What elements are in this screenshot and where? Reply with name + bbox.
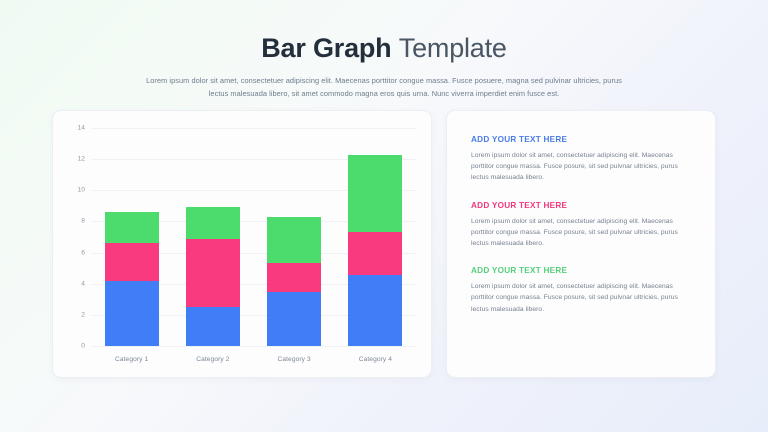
text-block-1-heading: ADD YOUR TEXT HERE — [471, 135, 693, 144]
bar-segment[interactable] — [105, 281, 159, 346]
bar-column[interactable]: Category 2 — [186, 128, 240, 346]
y-axis-tick-label: 10 — [77, 187, 85, 194]
bar-column[interactable]: Category 3 — [267, 128, 321, 346]
page-title-light: Template — [399, 33, 507, 63]
y-axis-tick-label: 14 — [77, 125, 85, 132]
gridline: 0 — [91, 346, 416, 347]
bar-segment[interactable] — [267, 263, 321, 291]
x-axis-tick-label: Category 4 — [359, 356, 392, 363]
content-row: 14121086420 Category 1Category 2Category… — [52, 110, 716, 378]
slide-header: Bar Graph Template Lorem ipsum dolor sit… — [0, 0, 768, 100]
y-axis-tick-label: 8 — [81, 218, 85, 225]
bar-column[interactable]: Category 1 — [105, 128, 159, 346]
text-block-3: ADD YOUR TEXT HERE Lorem ipsum dolor sit… — [471, 266, 693, 315]
bar-column[interactable]: Category 4 — [348, 128, 402, 346]
chart-bars: Category 1Category 2Category 3Category 4 — [91, 128, 416, 346]
bar-segment[interactable] — [267, 217, 321, 264]
text-block-2-heading: ADD YOUR TEXT HERE — [471, 201, 693, 210]
page-subtitle: Lorem ipsum dolor sit amet, consectetuer… — [144, 75, 624, 100]
bar-segment[interactable] — [348, 155, 402, 233]
chart-plot-area: 14121086420 Category 1Category 2Category… — [91, 128, 416, 346]
y-axis-tick-label: 2 — [81, 311, 85, 318]
bar-segment[interactable] — [186, 207, 240, 238]
bar-segment[interactable] — [105, 243, 159, 280]
y-axis-tick-label: 4 — [81, 280, 85, 287]
y-axis-tick-label: 6 — [81, 249, 85, 256]
text-block-1-body: Lorem ipsum dolor sit amet, consectetuer… — [471, 150, 693, 184]
y-axis-tick-label: 0 — [81, 343, 85, 350]
chart-card: 14121086420 Category 1Category 2Category… — [52, 110, 432, 378]
text-block-2-body: Lorem ipsum dolor sit amet, consectetuer… — [471, 216, 693, 250]
page-title-bold: Bar Graph — [261, 33, 391, 63]
y-axis-tick-label: 12 — [77, 156, 85, 163]
bar-segment[interactable] — [348, 232, 402, 275]
text-block-3-heading: ADD YOUR TEXT HERE — [471, 266, 693, 275]
bar-segment[interactable] — [105, 212, 159, 243]
bar-segment[interactable] — [267, 292, 321, 347]
x-axis-tick-label: Category 2 — [196, 356, 229, 363]
text-card: ADD YOUR TEXT HERE Lorem ipsum dolor sit… — [446, 110, 716, 378]
text-block-1: ADD YOUR TEXT HERE Lorem ipsum dolor sit… — [471, 135, 693, 184]
x-axis-tick-label: Category 3 — [277, 356, 310, 363]
bar-chart: 14121086420 Category 1Category 2Category… — [53, 111, 433, 379]
text-block-3-body: Lorem ipsum dolor sit amet, consectetuer… — [471, 281, 693, 315]
text-block-2: ADD YOUR TEXT HERE Lorem ipsum dolor sit… — [471, 201, 693, 250]
page-title: Bar Graph Template — [0, 32, 768, 64]
bar-segment[interactable] — [348, 275, 402, 346]
bar-segment[interactable] — [186, 239, 240, 308]
bar-segment[interactable] — [186, 307, 240, 346]
x-axis-tick-label: Category 1 — [115, 356, 148, 363]
